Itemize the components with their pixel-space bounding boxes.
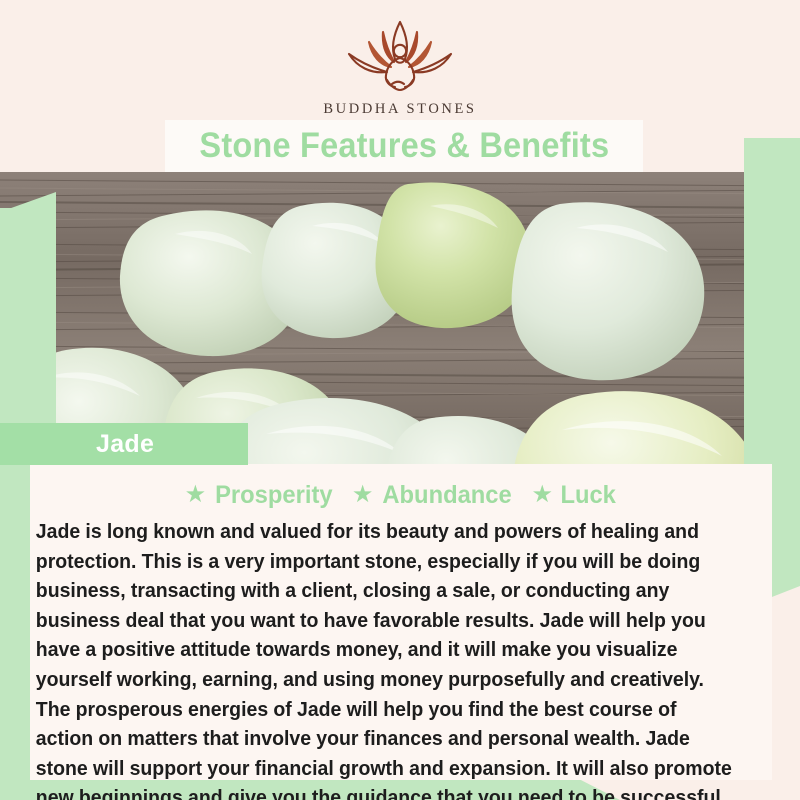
- benefit-label: Luck: [560, 481, 615, 510]
- page-title: Stone Features & Benefits: [199, 126, 609, 166]
- brand-logo: BUDDHA STONES: [0, 18, 800, 118]
- stone-name: Jade: [96, 430, 154, 459]
- lotus-meditation-icon: [325, 18, 475, 96]
- content-panel: ★ Prosperity ★ Abundance ★ Luck Jade is …: [30, 464, 772, 780]
- benefit-item: ★ Abundance: [352, 481, 516, 510]
- benefit-item: ★ Prosperity: [185, 481, 336, 510]
- stone-description: Jade is long known and valued for its be…: [30, 512, 746, 800]
- benefit-label: Abundance: [383, 481, 512, 510]
- benefits-row: ★ Prosperity ★ Abundance ★ Luck: [30, 464, 772, 512]
- star-icon: ★: [352, 483, 374, 507]
- benefit-label: Prosperity: [215, 481, 332, 510]
- stone-photo-illustration: [0, 172, 800, 464]
- stone-photo: [0, 172, 800, 464]
- brand-name: BUDDHA STONES: [323, 101, 476, 118]
- star-icon: ★: [185, 483, 207, 507]
- page-title-box: Stone Features & Benefits: [165, 120, 643, 172]
- stone-info-poster: BUDDHA STONES: [0, 0, 800, 800]
- star-icon: ★: [531, 483, 553, 507]
- benefit-item: ★ Luck: [531, 481, 617, 510]
- stone-name-band: Jade: [0, 423, 248, 465]
